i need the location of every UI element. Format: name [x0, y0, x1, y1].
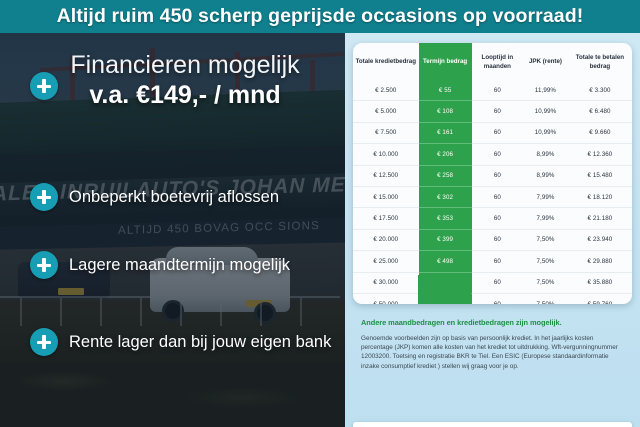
table-cell: € 108 [419, 101, 472, 122]
feature-item-1: Onbeperkt boetevrij aflossen [30, 183, 279, 211]
table-row: € 12.500€ 258608,99%€ 15.480 [353, 165, 632, 186]
table-cell: € 12.500 [353, 165, 419, 186]
table-row: € 7.500€ 1616010,99%€ 9.660 [353, 122, 632, 143]
table-row: € 15.000€ 302607,99%€ 18.120 [353, 186, 632, 207]
table-cell: € 15.000 [353, 186, 419, 207]
table-cell: € 2.500 [353, 80, 419, 101]
table-cell: 60 [472, 272, 524, 293]
table-cell: 10,99% [523, 122, 568, 143]
table-cell: € 55 [419, 80, 472, 101]
feature-label: Lagere maandtermijn mogelijk [69, 255, 290, 275]
column-header-monthly-amount: Termijn bedrag [419, 43, 472, 80]
disclaimer-title: Andere maandbedragen en kredietbedragen … [361, 318, 626, 328]
table-cell: 7,50% [523, 229, 568, 250]
table-cell: € 21.180 [568, 208, 632, 229]
feature-item-3: Rente lager dan bij jouw eigen bank [30, 328, 331, 356]
plus-icon [30, 183, 58, 211]
disclaimer-body: Genoemde voorbeelden zijn op basis van p… [361, 334, 626, 371]
column-header-total-credit: Totale kredietbedrag [353, 43, 419, 80]
table-row: € 30.000€ 598607,50%€ 35.880 [353, 272, 632, 293]
table-cell: 7,99% [523, 186, 568, 207]
table-cell: 60 [472, 229, 524, 250]
table-cell: € 17.500 [353, 208, 419, 229]
plus-icon [30, 251, 58, 279]
table-row: € 20.000€ 399607,50%€ 23.940 [353, 229, 632, 250]
table-cell: 10,99% [523, 101, 568, 122]
left-content-column: Financieren mogelijk v.a. €149,- / mnd O… [0, 33, 345, 427]
finance-panel: Totale kredietbedrag Termijn bedrag Loop… [345, 33, 640, 427]
table-cell: € 35.880 [568, 272, 632, 293]
table-row: € 25.000€ 498607,50%€ 29.880 [353, 251, 632, 272]
credit-warning-bar: Let op! Geld lenen kost geld [353, 422, 632, 427]
table-cell: € 302 [419, 186, 472, 207]
financing-rates-table: Totale kredietbedrag Termijn bedrag Loop… [353, 43, 632, 304]
table-cell: € 161 [419, 122, 472, 143]
column-header-total-payable: Totale te betalen bedrag [568, 43, 632, 80]
table-cell: € 29.880 [568, 251, 632, 272]
table-cell: € 10.000 [353, 144, 419, 165]
table-cell: 11,99% [523, 80, 568, 101]
table-cell: € 15.480 [568, 165, 632, 186]
table-row: € 50.000€ 996607,50%€ 59.760 [353, 293, 632, 304]
table-cell: € 50.000 [353, 293, 419, 304]
table-cell: 60 [472, 186, 524, 207]
column-header-jpk: JPK (rente) [523, 43, 568, 80]
table-cell: 60 [472, 165, 524, 186]
table-cell: € 9.660 [568, 122, 632, 143]
table-header-row: Totale kredietbedrag Termijn bedrag Loop… [353, 43, 632, 80]
table-cell: 7,50% [523, 293, 568, 304]
table-row: € 10.000€ 206608,99%€ 12.360 [353, 144, 632, 165]
table-cell: 7,50% [523, 272, 568, 293]
table-cell: € 3.300 [568, 80, 632, 101]
table-cell: € 6.480 [568, 101, 632, 122]
table-row: € 5.000€ 1086010,99%€ 6.480 [353, 101, 632, 122]
table-cell: 60 [472, 122, 524, 143]
feature-label: Rente lager dan bij jouw eigen bank [69, 332, 331, 352]
table-cell: 7,50% [523, 251, 568, 272]
table-row: € 2.500€ 556011,99%€ 3.300 [353, 80, 632, 101]
advertisement-banner: ALER INRUILAUTO'S JOHAN MEURE ALTIJD 450… [0, 0, 640, 427]
table-cell: € 7.500 [353, 122, 419, 143]
table-cell: € 5.000 [353, 101, 419, 122]
table-cell: € 20.000 [353, 229, 419, 250]
rates-table-card: Totale kredietbedrag Termijn bedrag Loop… [353, 43, 632, 304]
disclaimer-block: Andere maandbedragen en kredietbedragen … [361, 318, 626, 371]
table-body: € 2.500€ 556011,99%€ 3.300€ 5.000€ 10860… [353, 80, 632, 304]
table-cell: € 12.360 [568, 144, 632, 165]
headline-line-2: v.a. €149,- / mnd [30, 80, 340, 111]
headline-line-1: Financieren mogelijk [30, 50, 340, 80]
headline-bullet-marker [30, 72, 58, 100]
feature-item-2: Lagere maandtermijn mogelijk [30, 251, 290, 279]
table-cell: 60 [472, 293, 524, 304]
table-cell: € 25.000 [353, 251, 419, 272]
table-cell: € 498 [419, 251, 472, 272]
table-cell: 60 [472, 101, 524, 122]
table-cell: € 353 [419, 208, 472, 229]
table-cell: € 30.000 [353, 272, 419, 293]
highlight-column-footer [418, 275, 471, 304]
table-cell: € 206 [419, 144, 472, 165]
plus-icon [30, 328, 58, 356]
column-header-duration: Looptijd in maanden [472, 43, 524, 80]
table-cell: 8,99% [523, 165, 568, 186]
feature-label: Onbeperkt boetevrij aflossen [69, 187, 279, 207]
table-cell: € 23.940 [568, 229, 632, 250]
table-cell: 60 [472, 251, 524, 272]
table-cell: € 399 [419, 229, 472, 250]
headline-block: Financieren mogelijk v.a. €149,- / mnd [30, 50, 340, 111]
table-cell: 8,99% [523, 144, 568, 165]
table-cell: 7,99% [523, 208, 568, 229]
plus-icon [30, 72, 58, 100]
table-row: € 17.500€ 353607,99%€ 21.180 [353, 208, 632, 229]
table-cell: 60 [472, 80, 524, 101]
table-cell: € 258 [419, 165, 472, 186]
table-cell: 60 [472, 208, 524, 229]
table-cell: € 18.120 [568, 186, 632, 207]
table-cell: 60 [472, 144, 524, 165]
top-banner-text: Altijd ruim 450 scherp geprijsde occasio… [57, 5, 584, 28]
table-cell: € 59.760 [568, 293, 632, 304]
top-banner: Altijd ruim 450 scherp geprijsde occasio… [0, 0, 640, 33]
